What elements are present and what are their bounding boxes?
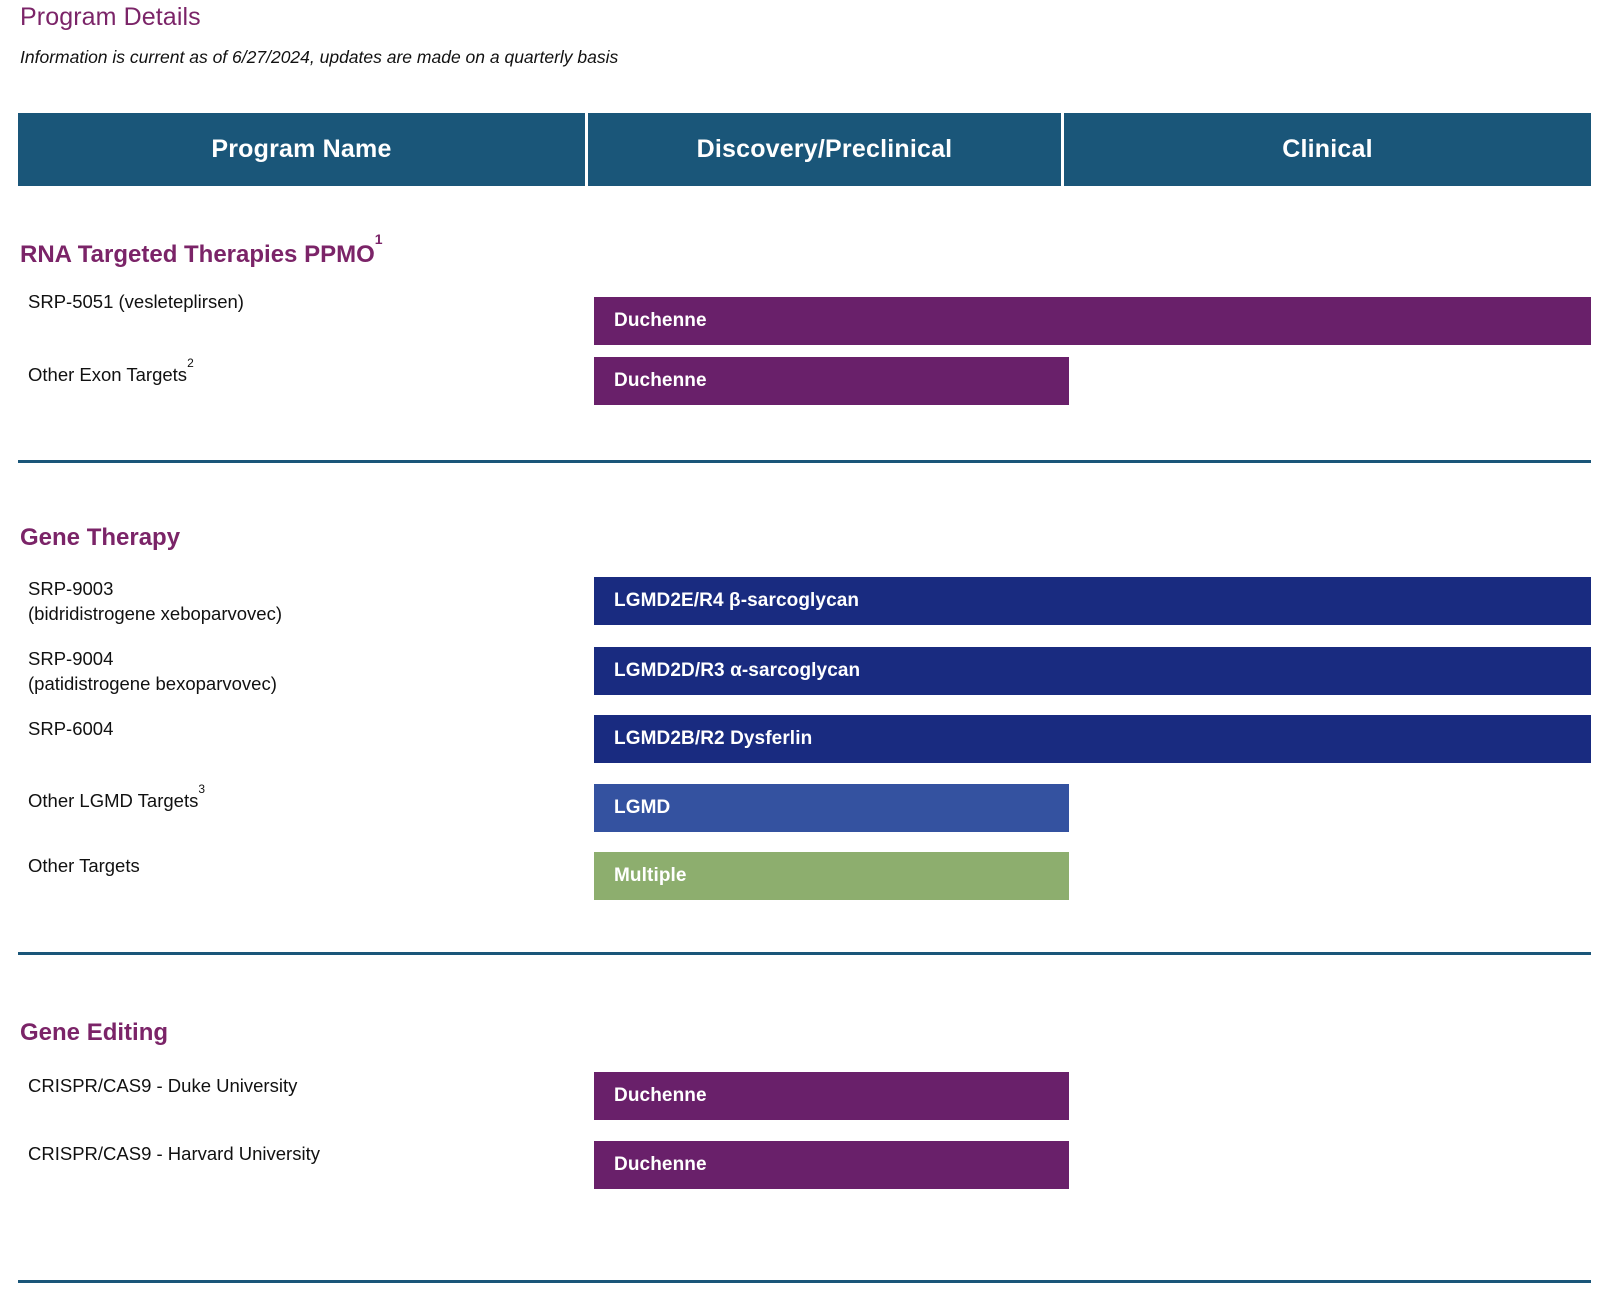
program-bar-srp-9004[interactable]: LGMD2D/R3 α-sarcoglycan [594, 647, 1591, 695]
program-bar-label: Duchenne [614, 1154, 707, 1176]
section-title-gene-editing: Gene Editing [20, 1019, 168, 1047]
table-column-header: Program Name Discovery/Preclinical Clini… [18, 113, 1591, 186]
program-name-footnote-marker: 3 [198, 782, 205, 796]
program-bar-label: LGMD2B/R2 Dysferlin [614, 728, 812, 750]
program-name-text: SRP-6004 [28, 718, 113, 739]
program-bar-srp-9003[interactable]: LGMD2E/R4 β-sarcoglycan [594, 577, 1591, 625]
program-name-text: SRP-5051 (vesleteplirsen) [28, 291, 244, 312]
program-bar-label: LGMD2D/R3 α-sarcoglycan [614, 660, 860, 682]
section-title-text: Gene Therapy [20, 524, 180, 551]
section-divider-gene-therapy [18, 952, 1591, 955]
program-name-text: Other LGMD Targets [28, 790, 198, 811]
program-name-srp-5051: SRP-5051 (vesleteplirsen) [28, 289, 568, 314]
program-name-text: CRISPR/CAS9 - Harvard University [28, 1143, 320, 1164]
program-bar-label: Duchenne [614, 370, 707, 392]
program-details-page: Program Details Information is current a… [0, 0, 1618, 1306]
program-bar-label: Duchenne [614, 1085, 707, 1107]
program-name-footnote-marker: 2 [187, 356, 194, 370]
column-header-program-name: Program Name [18, 113, 585, 186]
section-divider-rna-targeted-therapies-ppmo [18, 460, 1591, 463]
program-name-other-targets: Other Targets [28, 853, 568, 878]
program-name-srp-9004: SRP-9004 (patidistrogene bexoparvovec) [28, 646, 568, 696]
program-name-other-exon-targets: Other Exon Targets2 [28, 358, 568, 387]
section-title-gene-therapy: Gene Therapy [20, 524, 180, 552]
program-bar-crispr-cas9-duke[interactable]: Duchenne [594, 1072, 1069, 1120]
section-title-text: Gene Editing [20, 1019, 168, 1046]
section-title-footnote-marker: 1 [375, 231, 383, 247]
section-divider-gene-editing [18, 1280, 1591, 1283]
program-name-crispr-cas9-duke: CRISPR/CAS9 - Duke University [28, 1073, 568, 1098]
column-header-clinical: Clinical [1064, 113, 1591, 186]
column-header-discovery-preclinical: Discovery/Preclinical [588, 113, 1061, 186]
title-block: Program Details Information is current a… [20, 2, 618, 68]
program-bar-srp-5051[interactable]: Duchenne [594, 297, 1591, 345]
program-name-crispr-cas9-harvard: CRISPR/CAS9 - Harvard University [28, 1141, 568, 1166]
program-name-text: SRP-9003 (bidridistrogene xeboparvovec) [28, 578, 282, 624]
program-name-srp-6004: SRP-6004 [28, 716, 568, 741]
program-bar-label: Duchenne [614, 310, 707, 332]
program-bar-label: Multiple [614, 865, 687, 887]
program-bar-crispr-cas9-harvard[interactable]: Duchenne [594, 1141, 1069, 1189]
program-bar-other-targets[interactable]: Multiple [594, 852, 1069, 900]
page-subtitle: Information is current as of 6/27/2024, … [20, 32, 618, 68]
program-name-text: Other Targets [28, 855, 140, 876]
program-bar-label: LGMD2E/R4 β-sarcoglycan [614, 590, 859, 612]
section-title-rna-targeted-therapies-ppmo: RNA Targeted Therapies PPMO1 [20, 234, 383, 269]
program-name-other-lgmd-targets: Other LGMD Targets3 [28, 784, 568, 813]
program-bar-label: LGMD [614, 797, 670, 819]
program-name-text: CRISPR/CAS9 - Duke University [28, 1075, 297, 1096]
program-bar-srp-6004[interactable]: LGMD2B/R2 Dysferlin [594, 715, 1591, 763]
program-name-text: SRP-9004 (patidistrogene bexoparvovec) [28, 648, 277, 694]
section-title-text: RNA Targeted Therapies PPMO [20, 241, 375, 268]
program-bar-other-exon-targets[interactable]: Duchenne [594, 357, 1069, 405]
program-name-text: Other Exon Targets [28, 364, 187, 385]
program-name-srp-9003: SRP-9003 (bidridistrogene xeboparvovec) [28, 576, 568, 626]
program-bar-other-lgmd-targets[interactable]: LGMD [594, 784, 1069, 832]
page-title: Program Details [20, 2, 618, 32]
